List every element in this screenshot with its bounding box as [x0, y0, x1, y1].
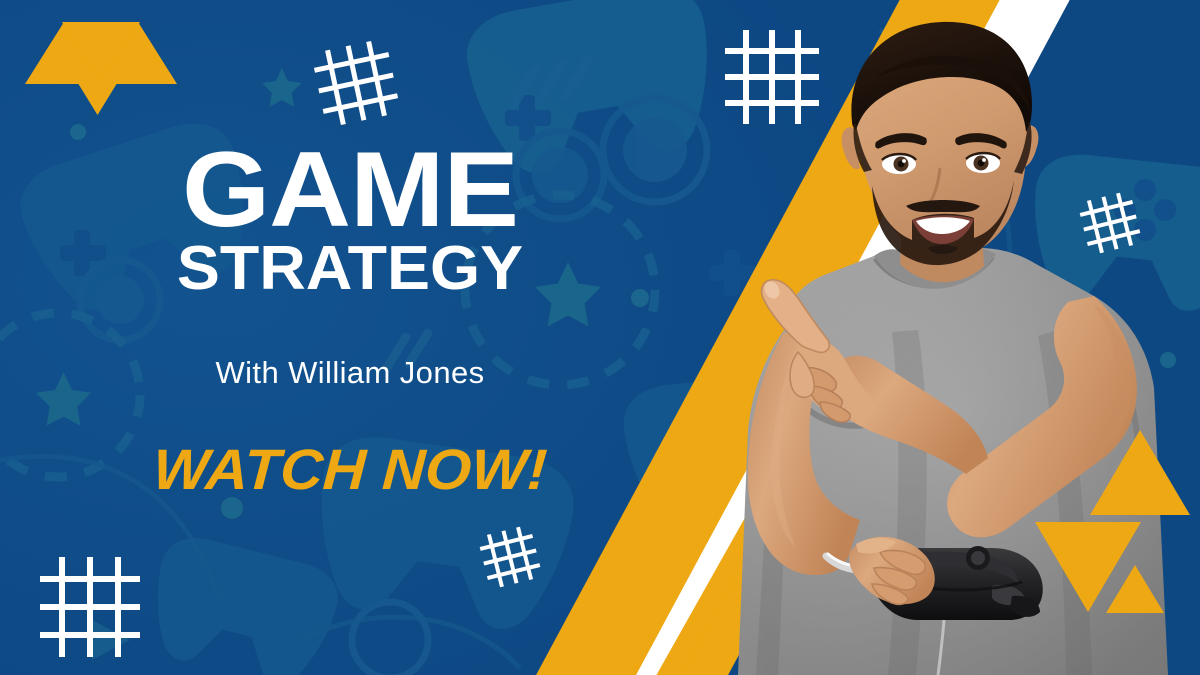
top-left-triangle-up-right: [99, 22, 177, 84]
game-strategy-banner: GAME STRATEGY With William Jones WATCH N…: [0, 0, 1200, 675]
head: [842, 22, 1039, 282]
bottom-right-triangle-up: [1090, 430, 1190, 515]
grid-top-right: [725, 30, 819, 124]
bottom-right-triangle-up-small: [1106, 565, 1164, 613]
grid-bottom-left: [40, 557, 140, 657]
grid-top-left-rotated: [311, 38, 401, 128]
top-left-triangle-down-small: [76, 80, 119, 115]
